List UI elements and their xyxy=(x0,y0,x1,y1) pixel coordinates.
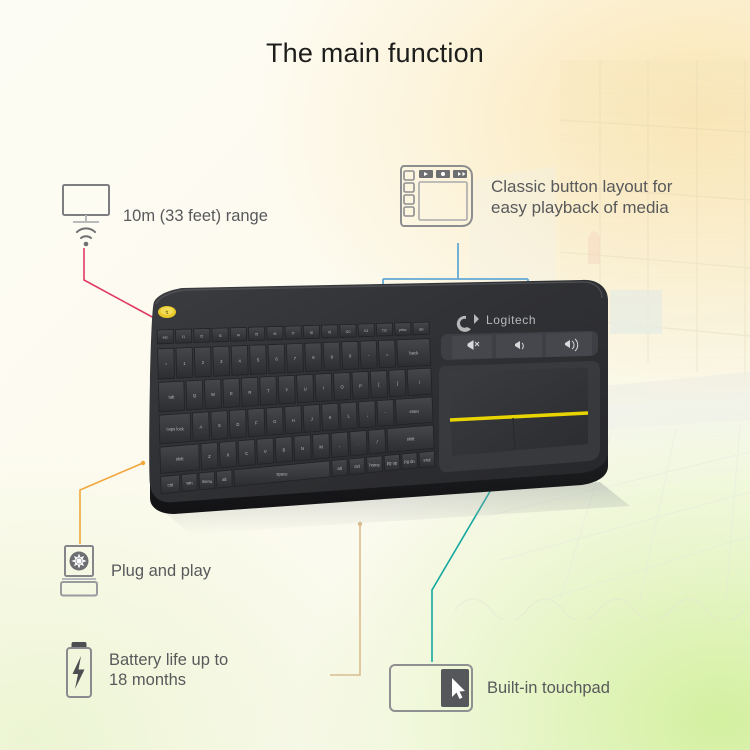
key-shift: shift xyxy=(387,425,434,452)
key-C: C xyxy=(238,440,255,467)
key-8: 8 xyxy=(305,343,322,372)
svg-text:D: D xyxy=(236,422,239,427)
key-J: J xyxy=(303,404,320,432)
key-ctrl: ctrl xyxy=(161,475,180,494)
svg-text:win: win xyxy=(186,480,193,485)
svg-text:W: W xyxy=(211,392,215,397)
svg-text:f12: f12 xyxy=(382,329,387,333)
key-V: V xyxy=(257,438,274,464)
touchpad xyxy=(439,361,600,472)
callout-range: 10m (33 feet) range xyxy=(60,182,268,250)
svg-text:N: N xyxy=(301,446,304,451)
key-P: P xyxy=(352,371,369,399)
svg-text:pg up: pg up xyxy=(387,461,398,466)
key-G: G xyxy=(266,407,283,435)
svg-text:home: home xyxy=(369,462,380,467)
callout-media-label: Classic button layout for easy playback … xyxy=(491,177,672,218)
svg-text:X: X xyxy=(227,452,230,457)
page-title: The main function xyxy=(0,38,750,69)
key-\: \ xyxy=(407,368,432,395)
svg-text:Z: Z xyxy=(208,454,211,459)
svg-text:shift: shift xyxy=(176,457,185,462)
key-,: , xyxy=(331,432,348,458)
svg-text:pg dn: pg dn xyxy=(404,459,415,464)
svg-text:f6: f6 xyxy=(274,332,277,336)
key-4: 4 xyxy=(231,345,248,375)
key-win: win xyxy=(182,473,198,491)
callout-media: Classic button layout for easy playback … xyxy=(398,162,672,234)
key-end: end xyxy=(419,451,435,468)
key-caps-lock: caps lock xyxy=(159,413,191,444)
svg-text:f8: f8 xyxy=(310,331,313,335)
key-0: 0 xyxy=(342,341,359,369)
svg-text:V: V xyxy=(264,449,267,454)
svg-text:M: M xyxy=(319,444,323,449)
svg-text:G: G xyxy=(273,419,276,424)
key-H: H xyxy=(285,406,302,434)
key-shift: shift xyxy=(160,444,199,473)
key-B: B xyxy=(275,437,292,463)
callout-range-label: 10m (33 feet) range xyxy=(123,206,268,226)
keyboard-media-buttons-icon xyxy=(398,162,478,234)
key-home: home xyxy=(367,456,383,473)
key-1: 1 xyxy=(176,348,193,379)
key-alt: alt xyxy=(332,459,348,476)
function-key-f2: f2 xyxy=(194,328,210,342)
svg-text:del: del xyxy=(419,327,424,331)
svg-text:R: R xyxy=(248,390,251,395)
key-alt: alt xyxy=(217,470,233,488)
key-tab: tab xyxy=(158,381,184,412)
key-U: U xyxy=(297,374,314,403)
function-key-prtsc: prtsc xyxy=(395,323,412,336)
svg-text:caps lock: caps lock xyxy=(166,426,184,431)
key-M: M xyxy=(313,433,330,459)
key-L: L xyxy=(340,402,357,429)
callout-battery: Battery life up to 18 months xyxy=(62,640,228,700)
svg-text:A: A xyxy=(200,425,203,430)
svg-text:]: ] xyxy=(397,381,398,386)
svg-text:f5: f5 xyxy=(255,333,258,337)
key-9: 9 xyxy=(323,342,340,371)
svg-text:C: C xyxy=(245,451,248,456)
key-enter: enter xyxy=(395,397,433,425)
svg-text:f11: f11 xyxy=(364,329,369,333)
function-key-f6: f6 xyxy=(267,326,283,340)
function-key-f3: f3 xyxy=(212,328,228,342)
svg-text:F: F xyxy=(255,420,258,425)
svg-text:J: J xyxy=(311,416,313,421)
function-key-del: del xyxy=(413,322,430,335)
key-6: 6 xyxy=(268,344,285,373)
function-key-f4: f4 xyxy=(230,327,246,341)
key-ctrl: ctrl xyxy=(349,458,365,475)
svg-text:space: space xyxy=(276,471,288,476)
key-': ' xyxy=(377,400,394,427)
key-X: X xyxy=(220,441,237,468)
battery-bolt-icon xyxy=(62,640,96,700)
function-key-f9: f9 xyxy=(321,325,338,338)
key-7: 7 xyxy=(286,343,303,372)
key-Q: Q xyxy=(186,380,203,410)
key-T: T xyxy=(260,376,277,405)
callout-touchpad-label: Built-in touchpad xyxy=(487,678,610,698)
svg-text:esc: esc xyxy=(163,336,169,340)
function-key-esc: esc xyxy=(157,329,173,343)
function-key-f7: f7 xyxy=(285,326,302,340)
key-back: back xyxy=(397,339,431,367)
svg-text:prtsc: prtsc xyxy=(399,328,407,332)
key-I: I xyxy=(315,373,332,401)
svg-text:ctrl: ctrl xyxy=(354,464,360,469)
svg-text:U: U xyxy=(304,387,307,392)
svg-text:T: T xyxy=(267,389,270,394)
keyboard-image: ↯ Logitech escf1f2f3f4f5f6f7f8f9f10f11f1… xyxy=(130,270,650,550)
svg-text:f10: f10 xyxy=(346,330,351,334)
svg-text:S: S xyxy=(218,423,221,428)
svg-text:enter: enter xyxy=(409,409,419,414)
key-2: 2 xyxy=(194,347,211,377)
callout-plug-label: Plug and play xyxy=(111,561,211,581)
key--: - xyxy=(360,341,377,369)
svg-text:Logitech: Logitech xyxy=(486,313,536,327)
key-K: K xyxy=(322,403,339,431)
touchpad-cursor-icon xyxy=(388,663,474,713)
key-E: E xyxy=(223,378,240,408)
svg-text:f2: f2 xyxy=(200,334,203,338)
key-=: = xyxy=(378,340,395,368)
function-key-f10: f10 xyxy=(340,324,357,337)
key-]: ] xyxy=(389,369,406,396)
media-button-row xyxy=(441,331,598,360)
function-key-f8: f8 xyxy=(303,325,320,338)
key-W: W xyxy=(204,379,221,409)
svg-text:B: B xyxy=(283,448,286,453)
key-menu: menu xyxy=(199,472,215,490)
svg-text:↯: ↯ xyxy=(165,310,169,316)
key-D: D xyxy=(229,409,246,438)
svg-text:H: H xyxy=(292,418,295,423)
key-S: S xyxy=(211,411,228,440)
key-F: F xyxy=(248,408,265,437)
key-5: 5 xyxy=(250,345,267,375)
svg-text:I: I xyxy=(323,385,324,390)
svg-text:back: back xyxy=(409,351,419,356)
svg-text:tab: tab xyxy=(169,394,175,399)
callout-plug: Plug and play xyxy=(58,543,211,599)
key-;: ; xyxy=(359,401,376,428)
svg-text:Y: Y xyxy=(285,388,288,393)
key-O: O xyxy=(333,372,350,400)
svg-text:E: E xyxy=(230,391,233,396)
svg-text:f7: f7 xyxy=(292,332,295,336)
key-3: 3 xyxy=(213,346,230,376)
key-/: / xyxy=(368,429,385,454)
svg-text:P: P xyxy=(359,383,362,388)
key-[: [ xyxy=(370,370,387,398)
key-N: N xyxy=(294,435,311,461)
function-key-f11: f11 xyxy=(358,324,375,337)
svg-text:f9: f9 xyxy=(328,330,331,334)
usb-receiver-icon xyxy=(58,543,100,599)
key-Z: Z xyxy=(201,443,218,470)
infographic-canvas: The main function xyxy=(0,0,750,750)
callout-battery-label: Battery life up to 18 months xyxy=(109,650,228,690)
function-key-f12: f12 xyxy=(376,323,393,336)
tv-wifi-icon xyxy=(60,182,112,250)
svg-text:;: ; xyxy=(367,412,368,417)
svg-text:menu: menu xyxy=(202,479,213,484)
svg-text:f4: f4 xyxy=(237,333,240,337)
key-~: ~ xyxy=(158,348,175,379)
svg-text:shift: shift xyxy=(407,437,416,442)
svg-text:.: . xyxy=(358,441,359,446)
svg-text:ctrl: ctrl xyxy=(167,482,173,487)
key-Y: Y xyxy=(278,375,295,404)
svg-text:,: , xyxy=(339,443,340,448)
svg-text:K: K xyxy=(329,415,332,420)
status-led: ↯ xyxy=(158,306,176,318)
key-A: A xyxy=(192,412,209,441)
key-.: . xyxy=(350,430,367,455)
svg-text:f3: f3 xyxy=(219,334,222,338)
svg-text:f1: f1 xyxy=(182,335,185,339)
callout-touchpad: Built-in touchpad xyxy=(388,663,610,713)
key-pg-dn: pg dn xyxy=(402,453,418,470)
key-R: R xyxy=(241,377,258,406)
function-key-f1: f1 xyxy=(175,329,191,343)
key-pg-up: pg up xyxy=(384,454,400,471)
function-key-f5: f5 xyxy=(248,327,264,341)
svg-text:end: end xyxy=(423,457,431,462)
